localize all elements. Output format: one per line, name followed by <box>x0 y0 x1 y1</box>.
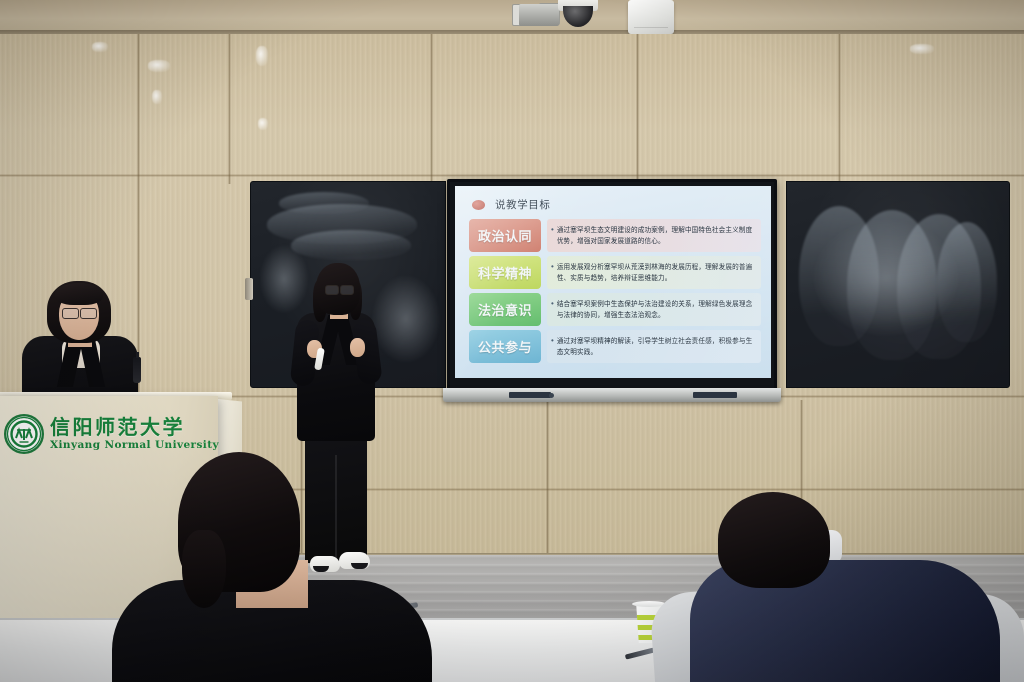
podium-branding: 信阳师范大学 Xinyang Normal University <box>4 414 219 454</box>
observer-bangs <box>55 283 103 305</box>
wall-tape-residue <box>152 90 162 104</box>
university-name-en: Xinyang Normal University <box>50 440 219 451</box>
dark-bottle <box>133 357 141 383</box>
university-emblem-icon <box>4 414 44 454</box>
audience-left-ponytail <box>182 530 226 608</box>
objectives-list: 政治认同 • 通过塞罕坝生态文明建设的成功案例，理解中国特色社会主义制度优势，增… <box>469 219 761 367</box>
objective-row: 法治意识 • 结合塞罕坝案例中生态保护与法治建设的关系，理解绿色发展理念与法律的… <box>469 293 761 326</box>
objective-desc-text: 通过对塞罕坝精神的解读，引导学生树立社会责任感，积极参与生态文明实践。 <box>557 336 756 357</box>
objective-row: 政治认同 • 通过塞罕坝生态文明建设的成功案例，理解中国特色社会主义制度优势，增… <box>469 219 761 252</box>
objective-row: 科学精神 • 运用发展观分析塞罕坝从荒漠到林海的发展历程，理解发展的普遍性、实质… <box>469 256 761 289</box>
objective-desc: • 运用发展观分析塞罕坝从荒漠到林海的发展历程，理解发展的普遍性、实质与趋势，培… <box>547 256 761 289</box>
objective-label: 法治意识 <box>469 293 541 326</box>
wall-horizontal-seam <box>0 174 1024 177</box>
objective-row: 公共参与 • 通过对塞罕坝精神的解读，引导学生树立社会责任感，积极参与生态文明实… <box>469 330 761 363</box>
blackboard-hook <box>245 278 253 300</box>
presenter-hand-right <box>350 338 365 357</box>
wall-seam <box>228 34 231 184</box>
bullet-dot-icon: • <box>551 300 554 308</box>
slide-title-text: 说教学目标 <box>495 197 551 212</box>
whiteboard-control-bar[interactable] <box>443 388 781 402</box>
bezel-port-left <box>509 392 551 398</box>
slide-bullet-icon <box>472 200 485 210</box>
objective-desc-text: 结合塞罕坝案例中生态保护与法治建设的关系，理解绿色发展理念与法律的协同，增强生态… <box>557 299 756 320</box>
university-name: 信阳师范大学 Xinyang Normal University <box>50 417 219 451</box>
wall-seam <box>430 34 433 184</box>
bullet-dot-icon: • <box>551 226 554 234</box>
objective-desc: • 通过对塞罕坝精神的解读，引导学生树立社会责任感，积极参与生态文明实践。 <box>547 330 761 363</box>
wall-mounted-white-box <box>628 0 674 34</box>
observer-glasses-right-lens <box>80 308 97 319</box>
objective-label: 公共参与 <box>469 330 541 363</box>
blackboard-panel-right <box>786 181 1010 388</box>
presenter-glasses-left-lens <box>325 285 339 295</box>
presenter-shoe-left <box>310 556 340 572</box>
dome-security-camera <box>558 0 598 28</box>
wall-tape-residue <box>148 60 170 72</box>
slide-title: 说教学目标 <box>472 197 551 212</box>
camera-mount-body <box>519 4 559 26</box>
wall-tape-residue <box>256 46 268 66</box>
objective-label: 科学精神 <box>469 256 541 289</box>
slide-display[interactable]: 说教学目标 政治认同 • 通过塞罕坝生态文明建设的成功案例，理解中国特色社会主义… <box>455 186 771 378</box>
interactive-whiteboard[interactable]: 说教学目标 政治认同 • 通过塞罕坝生态文明建设的成功案例，理解中国特色社会主义… <box>447 179 777 391</box>
objective-desc: • 通过塞罕坝生态文明建设的成功案例，理解中国特色社会主义制度优势，增强对国家发… <box>547 219 761 252</box>
bullet-dot-icon: • <box>551 263 554 271</box>
wall-tape-residue <box>92 42 108 52</box>
wall-seam <box>636 34 639 184</box>
bezel-port-right <box>693 392 737 398</box>
presentation-slide: 说教学目标 政治认同 • 通过塞罕坝生态文明建设的成功案例，理解中国特色社会主义… <box>455 186 771 378</box>
wall-tape-residue <box>258 118 268 130</box>
presenter-glasses-right-lens <box>340 285 354 295</box>
wall-seam <box>838 34 841 184</box>
bezel-indicator-icon <box>549 393 554 398</box>
presenter-leg-seam <box>335 455 337 560</box>
bullet-dot-icon: • <box>551 337 554 345</box>
classroom-scene: 说教学目标 政治认同 • 通过塞罕坝生态文明建设的成功案例，理解中国特色社会主义… <box>0 0 1024 682</box>
university-name-cn: 信阳师范大学 <box>50 417 219 437</box>
observer-glasses-left-lens <box>62 308 79 319</box>
audience-right-hair <box>718 492 830 588</box>
wall-tape-residue <box>910 44 934 54</box>
objective-desc-text: 运用发展观分析塞罕坝从荒漠到林海的发展历程，理解发展的普遍性、实质与趋势，培养辩… <box>557 262 756 283</box>
objective-desc: • 结合塞罕坝案例中生态保护与法治建设的关系，理解绿色发展理念与法律的协同，增强… <box>547 293 761 326</box>
objective-label: 政治认同 <box>469 219 541 252</box>
wall-seam <box>546 400 549 560</box>
presenter-shoe-right <box>339 552 370 569</box>
objective-desc-text: 通过塞罕坝生态文明建设的成功案例，理解中国特色社会主义制度优势，增强对国家发展道… <box>557 225 756 246</box>
